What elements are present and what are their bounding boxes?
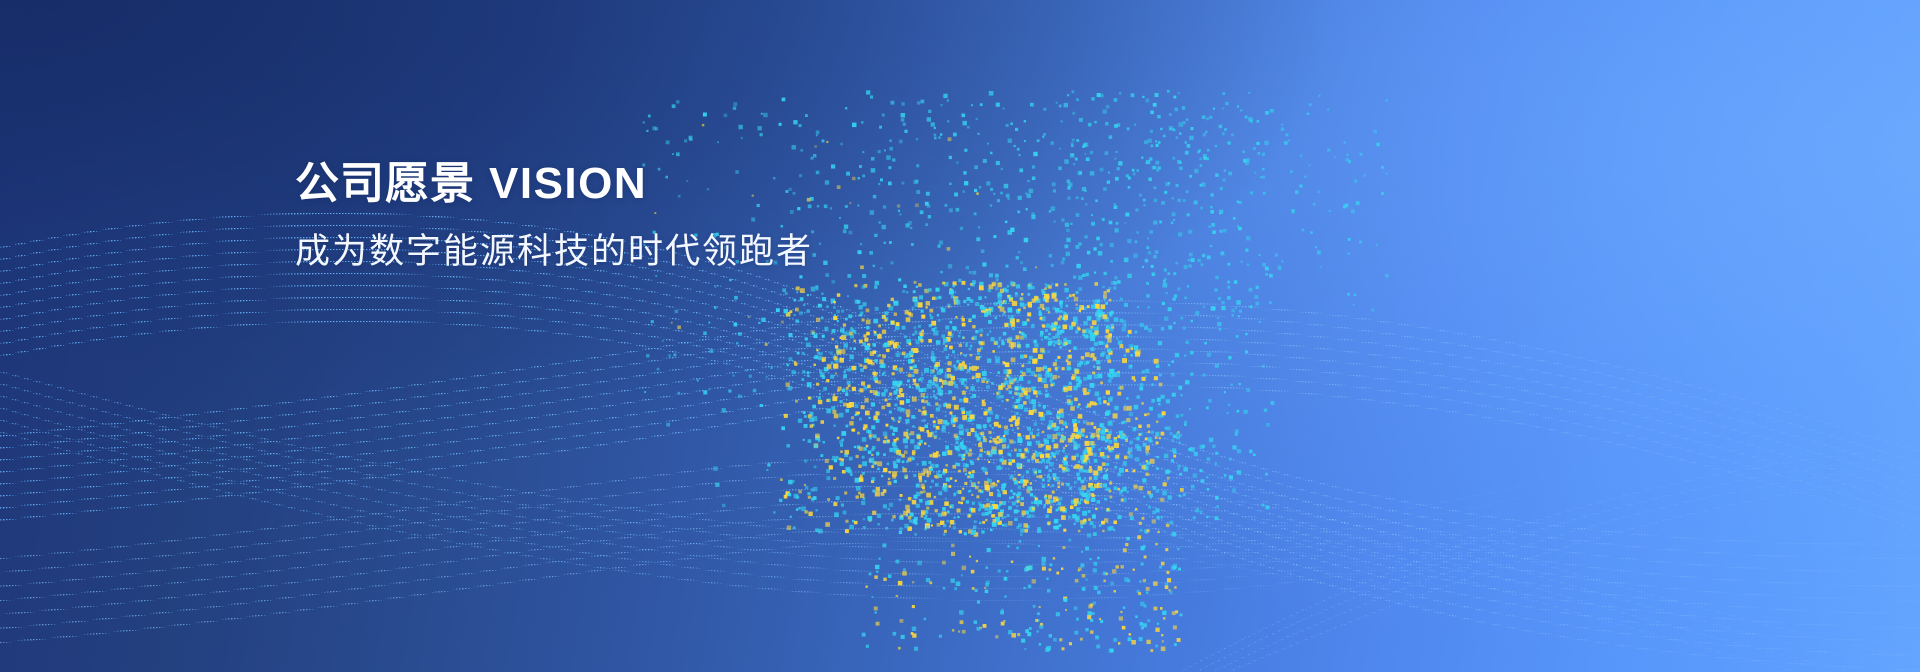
banner-text-block: 公司愿景VISION 成为数字能源科技的时代领跑者 (295, 160, 813, 273)
page-subtitle: 成为数字能源科技的时代领跑者 (295, 232, 813, 272)
page-title: 公司愿景VISION (295, 160, 813, 208)
background-vignette (0, 0, 1920, 672)
headline-chinese: 公司愿景 (295, 159, 475, 208)
vision-banner: 公司愿景VISION 成为数字能源科技的时代领跑者 (0, 0, 1920, 672)
headline-english: VISION (489, 159, 647, 208)
